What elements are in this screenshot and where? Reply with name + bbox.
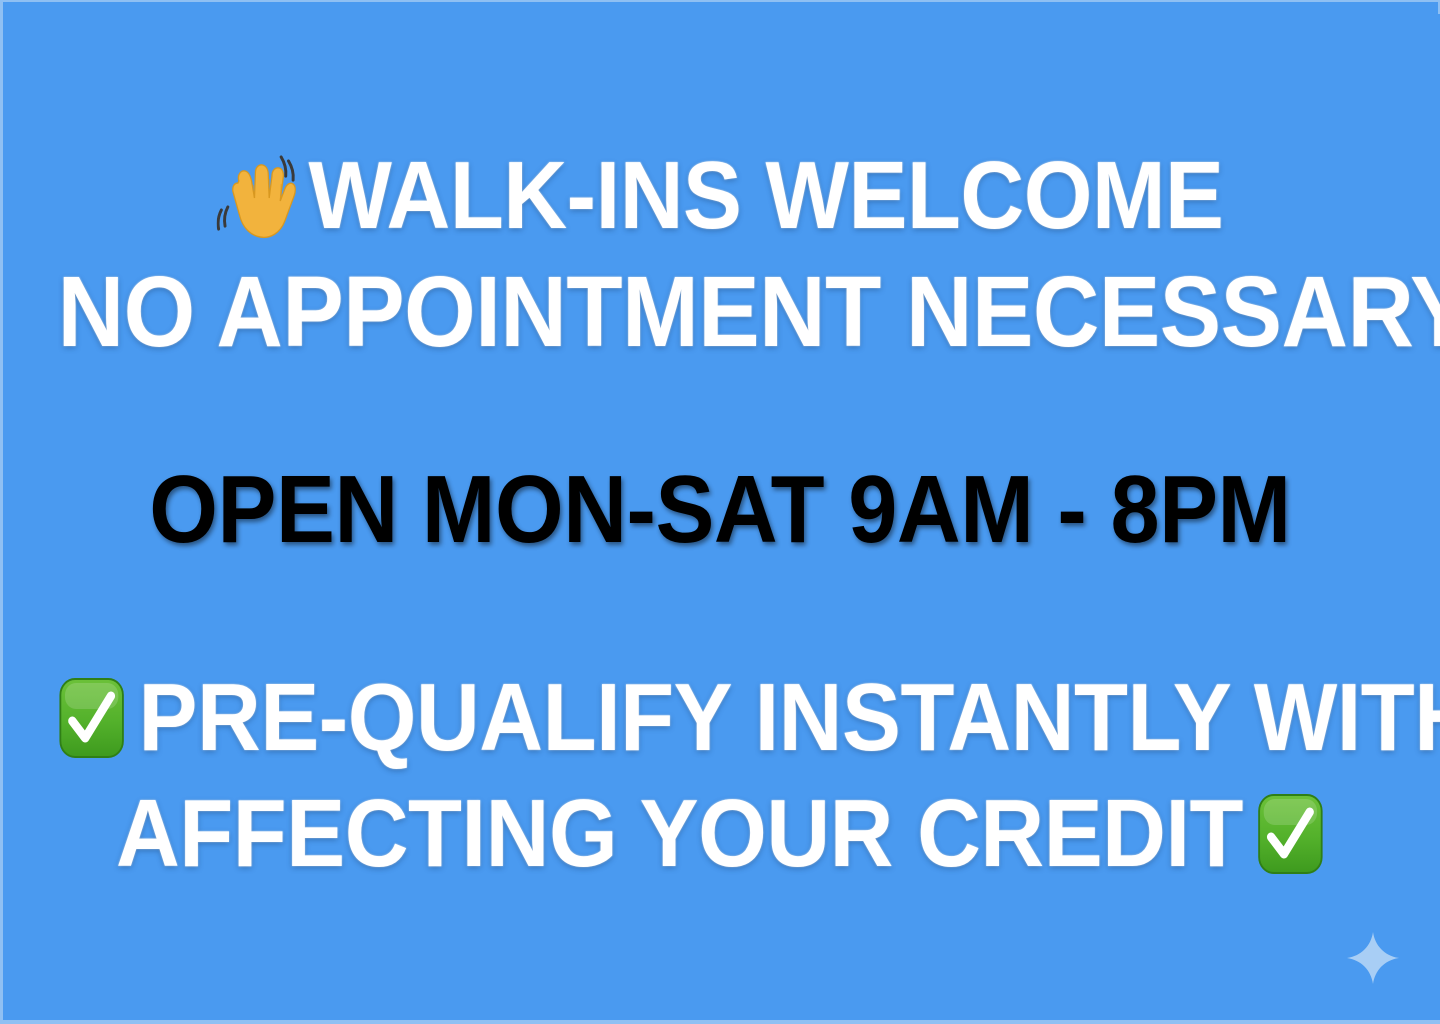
- waving-hand-icon: [217, 151, 296, 241]
- store-hours: OPEN MON-SAT 9AM - 8PM: [58, 462, 1383, 558]
- headline-prequalify: PRE-QUALIFY INSTANTLY WITHOUT: [58, 670, 1383, 776]
- headline-no-appointment-text: NO APPOINTMENT NECESSARY: [58, 262, 1440, 362]
- headline-credit: AFFECTING YOUR CREDIT: [58, 786, 1383, 882]
- headline-walk-ins-text: WALK-INS WELCOME: [309, 148, 1224, 244]
- poster-content: WALK-INS WELCOME NO APPOINTMENT NECESSAR…: [0, 0, 1440, 1024]
- check-mark-button-icon: [58, 676, 126, 760]
- headline-credit-text: AFFECTING YOUR CREDIT: [116, 786, 1243, 882]
- promo-poster: WALK-INS WELCOME NO APPOINTMENT NECESSAR…: [0, 0, 1440, 1024]
- headline-no-appointment: NO APPOINTMENT NECESSARY: [58, 262, 1383, 362]
- sparkle-icon: [1345, 930, 1401, 986]
- headline-prequalify-text: PRE-QUALIFY INSTANTLY WITHOUT: [139, 670, 1440, 766]
- store-hours-text: OPEN MON-SAT 9AM - 8PM: [149, 462, 1290, 558]
- headline-walk-ins: WALK-INS WELCOME: [58, 148, 1383, 257]
- check-mark-button-icon: [1256, 792, 1324, 876]
